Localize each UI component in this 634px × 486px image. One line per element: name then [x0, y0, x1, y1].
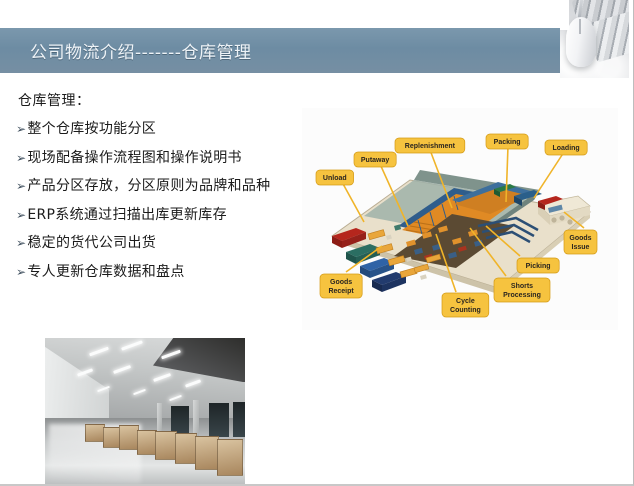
list-item-label: 现场配备操作流程图和操作说明书: [27, 150, 242, 167]
list-item: ➢ 稳定的货代公司出货: [16, 235, 316, 252]
list-item: ➢ 专人更新仓库数据和盘点: [16, 264, 316, 281]
list-item-label: 专人更新仓库数据和盘点: [27, 264, 184, 281]
callout-replenishment: Replenishment: [395, 138, 465, 153]
mouse-shape: [566, 17, 596, 67]
callout-unload: Unload: [316, 170, 354, 185]
bullet-arrow-icon: ➢: [16, 178, 26, 194]
callout-packing: Packing: [486, 134, 528, 149]
list-item: ➢ 整个仓库按功能分区: [16, 121, 316, 138]
callout-goods-receipt: GoodsReceipt: [320, 274, 362, 298]
photo-carton: [195, 436, 219, 471]
callout-picking: Picking: [517, 258, 559, 273]
photo-carton: [137, 430, 157, 456]
photo-doorway: [233, 402, 245, 438]
callout-cycle-counting: CycleCounting: [442, 293, 489, 317]
photo-carton: [175, 433, 197, 465]
svg-text:Picking: Picking: [526, 263, 551, 270]
list-item-label: 整个仓库按功能分区: [27, 121, 156, 138]
list-item: ➢ ERP系统通过扫描出库更新库存: [16, 207, 316, 224]
bullet-arrow-icon: ➢: [16, 121, 26, 137]
bullet-arrow-icon: ➢: [16, 235, 26, 251]
bullet-arrow-icon: ➢: [16, 264, 26, 280]
photo-carton: [119, 425, 139, 449]
svg-text:Loading: Loading: [552, 145, 579, 152]
photo-carton: [217, 439, 243, 477]
slide-canvas: 公司物流介绍-------仓库管理 仓库管理： ➢ 整个仓库按功能分区 ➢ 现场…: [0, 0, 634, 486]
computer-mouse-keyboard-photo: [560, 0, 629, 78]
callout-goods-issue: GoodsIssue: [564, 230, 597, 254]
list-item-label: 产品分区存放，分区原则为品牌和品种: [27, 178, 270, 195]
bullet-arrow-icon: ➢: [16, 207, 26, 223]
svg-text:Putaway: Putaway: [361, 157, 390, 164]
list-item-label: 稳定的货代公司出货: [27, 235, 156, 252]
list-item: ➢ 现场配备操作流程图和操作说明书: [16, 150, 316, 167]
photo-carton: [85, 424, 105, 442]
diagram-svg: UnloadPutawayReplenishmentPackingLoading…: [302, 108, 618, 330]
svg-text:Replenishment: Replenishment: [405, 143, 456, 150]
list-item: ➢ 产品分区存放，分区原则为品牌和品种: [16, 178, 316, 195]
callout-loading: Loading: [545, 140, 587, 155]
callout-putaway: Putaway: [354, 152, 396, 167]
bullet-list: 仓库管理： ➢ 整个仓库按功能分区 ➢ 现场配备操作流程图和操作说明书 ➢ 产品…: [16, 90, 316, 292]
photo-doorway: [209, 403, 229, 437]
warehouse-process-diagram: UnloadPutawayReplenishmentPackingLoading…: [302, 108, 618, 330]
photo-mask: [560, 0, 569, 30]
svg-text:Packing: Packing: [494, 139, 521, 146]
warehouse-interior-photo: [45, 338, 245, 486]
photo-carton: [155, 431, 177, 460]
list-item-label: ERP系统通过扫描出库更新库存: [27, 207, 227, 224]
page-title: 公司物流介绍-------仓库管理: [30, 38, 251, 63]
bullet-arrow-icon: ➢: [16, 150, 26, 166]
svg-text:Unload: Unload: [323, 175, 347, 182]
section-lead: 仓库管理：: [18, 90, 316, 110]
callout-shorts-processing: ShortsProcessing: [494, 278, 550, 302]
